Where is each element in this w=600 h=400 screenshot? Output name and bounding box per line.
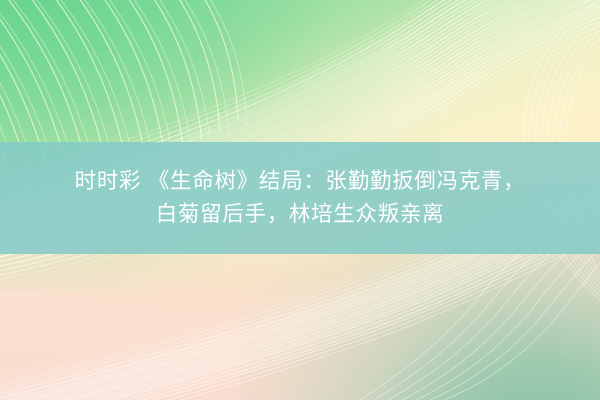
caption-line-2: 白菊留后手，林培生众叛亲离	[156, 198, 445, 231]
caption-band: 时时彩 《生命树》结局：张勤勤扳倒冯克青， 白菊留后手，林培生众叛亲离	[0, 142, 600, 254]
caption-line-1: 时时彩 《生命树》结局：张勤勤扳倒冯克青，	[75, 165, 526, 198]
banner-image: 时时彩 《生命树》结局：张勤勤扳倒冯克青， 白菊留后手，林培生众叛亲离	[0, 0, 600, 400]
